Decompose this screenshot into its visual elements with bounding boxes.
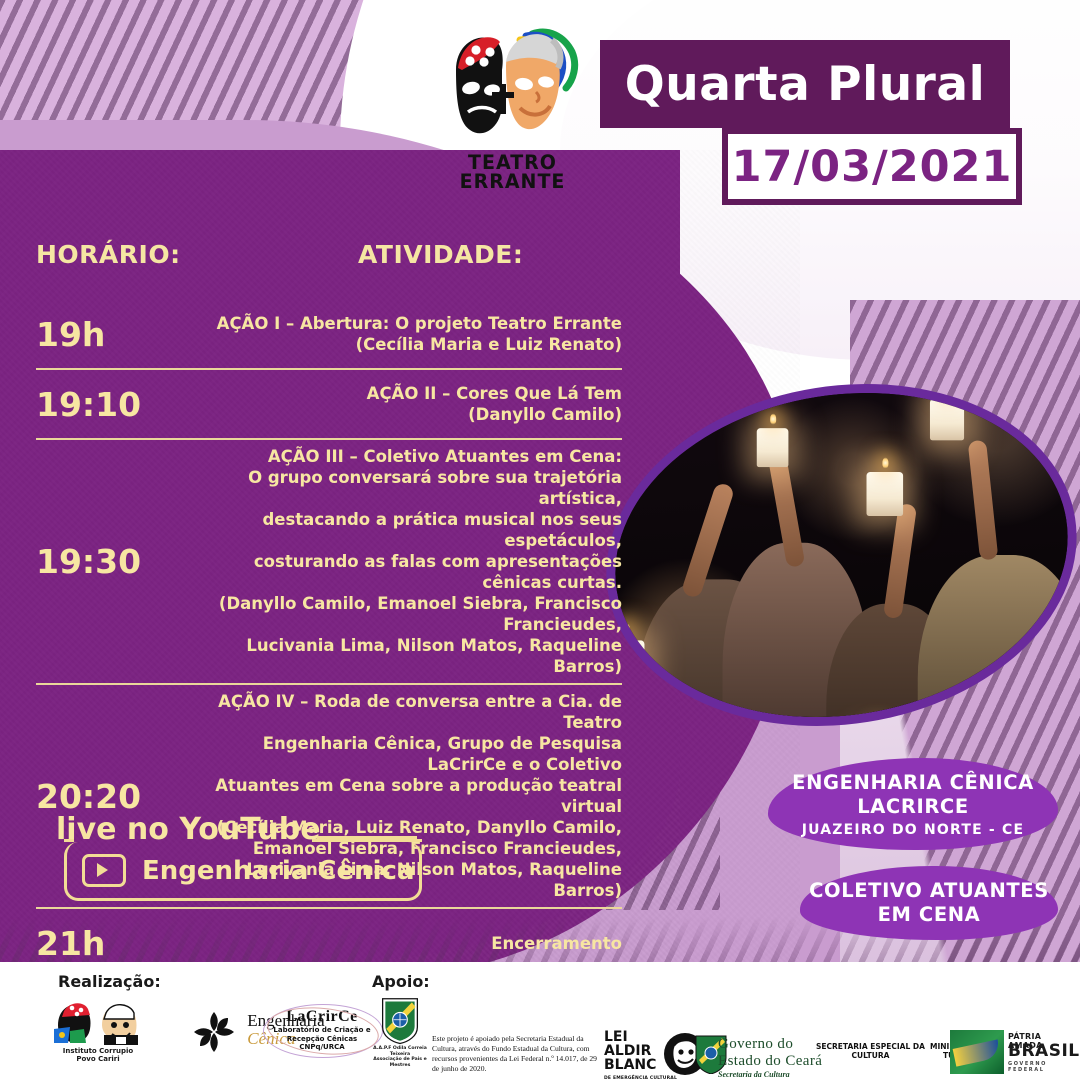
badge-line-3: JUAZEIRO DO NORTE - CE: [768, 822, 1058, 838]
badge-line-2: EM CENA: [800, 903, 1058, 927]
candle-1: [757, 428, 789, 467]
governo-ceara-logo: Governo do Estado do Ceará Secretaria da…: [718, 1036, 822, 1079]
badge-line-1: COLETIVO ATUANTES: [800, 879, 1058, 903]
youtube-live-cta[interactable]: live no YouTube Engenharia Cênica: [52, 812, 422, 904]
secretaria-cultura-label: SECRETARIA ESPECIAL DA CULTURA: [816, 1042, 925, 1060]
candle-2: [867, 472, 904, 516]
table-row: 19:30 AÇÃO III – Coletivo Atuantes em Ce…: [36, 440, 622, 683]
footer-bar: Realização: Apoio:: [0, 962, 1080, 1080]
aapf-caption: A.A.P.F Odila Correia Teixeira Associaçã…: [366, 1046, 434, 1068]
badge-line-2: LACRIRCE: [768, 795, 1058, 819]
table-row: 19:10 AÇÃO II – Cores Que Lá Tem (Danyll…: [36, 370, 622, 438]
status-badge: ENGENHARIA CÊNICA LACRIRCE JUAZEIRO DO N…: [768, 758, 1058, 850]
row-time: 19:10: [36, 385, 188, 424]
row-time: 20:20: [36, 777, 188, 816]
instituto-corrupio-logo: Instituto Corrupio Povo Cariri: [38, 996, 158, 1066]
schedule-activity-column-header: ATIVIDADE:: [358, 240, 523, 269]
realizacao-label: Realização:: [58, 972, 161, 991]
youtube-play-icon[interactable]: [82, 854, 126, 887]
row-activity: Encerramento: [188, 933, 622, 954]
apoio-label: Apoio:: [372, 972, 430, 991]
row-time: 19h: [36, 315, 188, 354]
row-time: 21h: [36, 924, 188, 963]
governo-line-2: Estado do Ceará: [718, 1053, 822, 1070]
theatre-masks-icon: [440, 26, 585, 154]
candle-3: [930, 399, 964, 440]
badge-line-1: ENGENHARIA CÊNICA: [768, 771, 1058, 795]
candle-flame-3: [945, 384, 951, 395]
patria-amada-brasil-logo: PÁTRIA AMADA BRASIL GOVERNO FEDERAL: [950, 1030, 1060, 1074]
aapf-shield-logo: A.A.P.F Odila Correia Teixeira Associaçã…: [366, 996, 434, 1068]
candle-flame-1: [770, 413, 776, 424]
logo-line-2: ERRANTE: [440, 172, 585, 191]
corrupio-mask-icon: [50, 999, 146, 1045]
cta-content[interactable]: Engenharia Cênica: [82, 854, 415, 887]
page-title: Quarta Plural: [625, 57, 985, 112]
engenharia-flower-icon: [191, 1009, 235, 1053]
table-row: 19h AÇÃO I – Abertura: O projeto Teatro …: [36, 300, 622, 368]
brasil-line-3: GOVERNO FEDERAL: [1008, 1061, 1060, 1073]
row-activity: AÇÃO III – Coletivo Atuantes em Cena: O …: [188, 446, 622, 677]
poster-canvas: TEATRO ERRANTE Quarta Plural 17/03/2021 …: [0, 0, 1080, 1080]
governo-line-1: Governo do: [718, 1036, 822, 1053]
candle-flame-2: [882, 457, 888, 468]
event-title-banner: Quarta Plural: [600, 40, 1010, 128]
event-date-badge: 17/03/2021: [722, 128, 1022, 205]
apoio-description: Este projeto é apoiado pela Secretaria E…: [432, 1034, 602, 1074]
shield-icon: [377, 996, 423, 1045]
candle-flame-4: [624, 623, 630, 634]
row-activity: AÇÃO II – Cores Que Lá Tem (Danyllo Cami…: [188, 383, 622, 425]
lacrirce-mark: LaCrirCe Laboratório de Criação e Recepç…: [263, 1000, 381, 1060]
row-activity: AÇÃO I – Abertura: O projeto Teatro Erra…: [188, 313, 622, 355]
governo-line-3: Secretaria da Cultura: [718, 1070, 822, 1079]
brasil-line-2: BRASIL: [1008, 1041, 1080, 1061]
schedule-time-column-header: HORÁRIO:: [36, 240, 181, 269]
logo-wordmark: TEATRO ERRANTE: [440, 153, 585, 191]
youtube-channel-name[interactable]: Engenharia Cênica: [142, 856, 415, 886]
row-time: 19:30: [36, 542, 188, 581]
event-date: 17/03/2021: [732, 142, 1013, 192]
teatro-errante-logo: TEATRO ERRANTE: [440, 26, 585, 186]
footer-logo-strip: Instituto Corrupio Povo Cariri Engenhari…: [0, 994, 1080, 1076]
instituto-caption: Instituto Corrupio Povo Cariri: [63, 1047, 133, 1063]
